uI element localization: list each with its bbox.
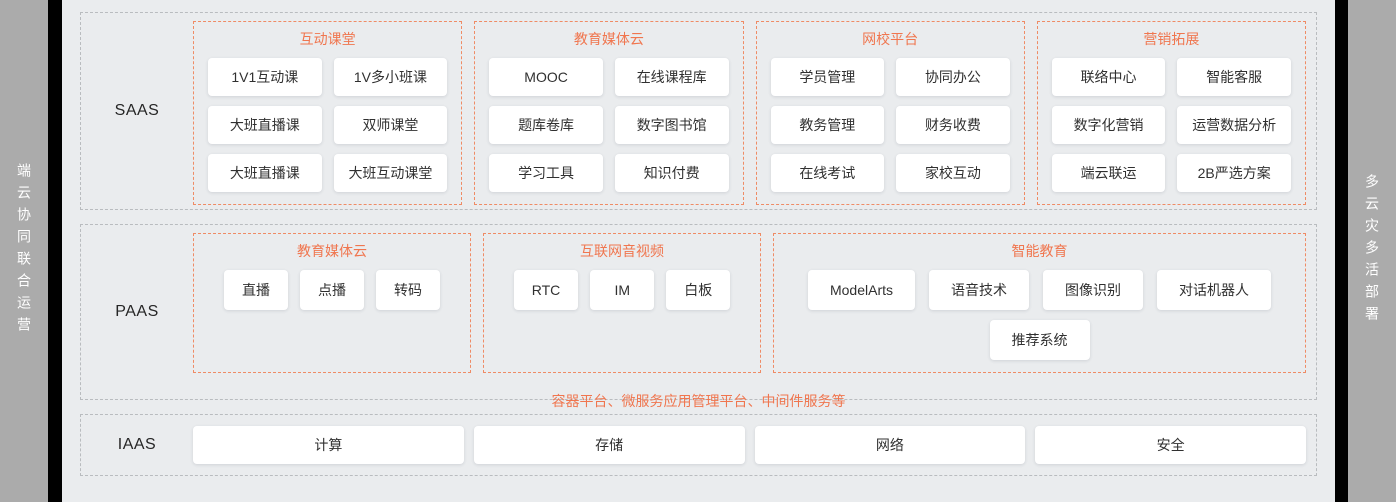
- card-item[interactable]: 端云联运: [1052, 154, 1166, 192]
- card-item[interactable]: 大班互动课堂: [334, 154, 448, 192]
- card-item[interactable]: 数字化营销: [1052, 106, 1166, 144]
- card-item[interactable]: ModelArts: [808, 270, 915, 310]
- card-item[interactable]: 教务管理: [771, 106, 885, 144]
- left-rail-label: 端云协同联合运营: [17, 163, 31, 339]
- card-item[interactable]: 1V1互动课: [208, 58, 322, 96]
- group-title: 互动课堂: [300, 29, 356, 49]
- group-education-media-cloud-saas: 教育媒体云 MOOC 在线课程库 题库卷库 数字图书馆 学习工具 知识付费: [474, 21, 743, 205]
- group-cards: ModelArts 语音技术 图像识别 对话机器人 推荐系统: [788, 270, 1291, 360]
- group-internet-audio-video: 互联网音视频 RTC IM 白板: [483, 233, 761, 373]
- group-cards: 1V1互动课 1V多小班课 大班直播课 双师课堂 大班直播课 大班互动课堂: [208, 58, 447, 192]
- card-item[interactable]: 财务收费: [896, 106, 1010, 144]
- tier-body-paas: 教育媒体云 直播 点播 转码 互联网音视频 RTC IM 白板: [193, 225, 1316, 399]
- card-item[interactable]: 学员管理: [771, 58, 885, 96]
- card-item[interactable]: 双师课堂: [334, 106, 448, 144]
- card-item[interactable]: 直播: [224, 270, 288, 310]
- group-interactive-classroom: 互动课堂 1V1互动课 1V多小班课 大班直播课 双师课堂 大班直播课 大班互动…: [193, 21, 462, 205]
- card-item[interactable]: 智能客服: [1177, 58, 1291, 96]
- card-item[interactable]: 存储: [474, 426, 745, 464]
- card-item[interactable]: IM: [590, 270, 654, 310]
- card-item[interactable]: 知识付费: [615, 154, 729, 192]
- group-cards: 直播 点播 转码: [224, 270, 440, 310]
- tier-saas: SAAS 互动课堂 1V1互动课 1V多小班课 大班直播课 双师课堂 大班直播课…: [80, 12, 1317, 210]
- tier-body-saas: 互动课堂 1V1互动课 1V多小班课 大班直播课 双师课堂 大班直播课 大班互动…: [193, 13, 1316, 209]
- card-item[interactable]: MOOC: [489, 58, 603, 96]
- card-item[interactable]: 计算: [193, 426, 464, 464]
- card-item[interactable]: 在线课程库: [615, 58, 729, 96]
- card-item[interactable]: 数字图书馆: [615, 106, 729, 144]
- card-item[interactable]: 联络中心: [1052, 58, 1166, 96]
- card-item[interactable]: 大班直播课: [208, 154, 322, 192]
- group-title: 教育媒体云: [297, 241, 367, 261]
- tier-label-iaas: IAAS: [81, 415, 193, 475]
- left-rail: 端云协同联合运营: [0, 0, 48, 502]
- architecture-diagram: 端云协同联合运营 SAAS 互动课堂 1V1互动课 1V多小班课 大班直播课 双…: [0, 0, 1396, 502]
- group-title: 互联网音视频: [580, 241, 664, 261]
- card-item[interactable]: 大班直播课: [208, 106, 322, 144]
- right-rail-label: 多云灾多活部署: [1365, 174, 1379, 328]
- card-item[interactable]: 网络: [755, 426, 1026, 464]
- group-cards: MOOC 在线课程库 题库卷库 数字图书馆 学习工具 知识付费: [489, 58, 728, 192]
- iaas-cards-row: 计算 存储 网络 安全: [193, 415, 1316, 475]
- card-item[interactable]: 1V多小班课: [334, 58, 448, 96]
- card-item[interactable]: 2B严选方案: [1177, 154, 1291, 192]
- group-cards: 学员管理 协同办公 教务管理 财务收费 在线考试 家校互动: [771, 58, 1010, 192]
- paas-groups-row: 教育媒体云 直播 点播 转码 互联网音视频 RTC IM 白板: [193, 225, 1316, 383]
- card-item[interactable]: 学习工具: [489, 154, 603, 192]
- left-rail-divider: [48, 0, 62, 502]
- group-title: 营销拓展: [1143, 29, 1199, 49]
- tier-iaas: IAAS 计算 存储 网络 安全: [80, 414, 1317, 476]
- group-cards: 联络中心 智能客服 数字化营销 运营数据分析 端云联运 2B严选方案: [1052, 58, 1291, 192]
- group-title: 智能教育: [1012, 241, 1068, 261]
- card-item[interactable]: 题库卷库: [489, 106, 603, 144]
- tier-paas: PAAS 教育媒体云 直播 点播 转码 互联网音视频 RTC: [80, 224, 1317, 400]
- card-item[interactable]: 点播: [300, 270, 364, 310]
- tier-body-iaas: 计算 存储 网络 安全: [193, 415, 1316, 475]
- card-item[interactable]: 语音技术: [929, 270, 1029, 310]
- card-item[interactable]: 转码: [376, 270, 440, 310]
- group-education-media-cloud-paas: 教育媒体云 直播 点播 转码: [193, 233, 471, 373]
- card-item[interactable]: 对话机器人: [1157, 270, 1271, 310]
- card-item[interactable]: 安全: [1035, 426, 1306, 464]
- card-item[interactable]: 运营数据分析: [1177, 106, 1291, 144]
- group-title: 网校平台: [862, 29, 918, 49]
- right-rail: 多云灾多活部署: [1348, 0, 1396, 502]
- card-item[interactable]: 在线考试: [771, 154, 885, 192]
- right-rail-divider: [1335, 0, 1348, 502]
- card-item[interactable]: 协同办公: [896, 58, 1010, 96]
- tier-label-paas: PAAS: [81, 225, 193, 399]
- card-item[interactable]: 白板: [666, 270, 730, 310]
- group-intelligent-education: 智能教育 ModelArts 语音技术 图像识别 对话机器人 推荐系统: [773, 233, 1306, 373]
- group-cards: RTC IM 白板: [514, 270, 731, 310]
- saas-groups-row: 互动课堂 1V1互动课 1V多小班课 大班直播课 双师课堂 大班直播课 大班互动…: [193, 13, 1316, 215]
- card-item[interactable]: RTC: [514, 270, 579, 310]
- tier-stack: SAAS 互动课堂 1V1互动课 1V多小班课 大班直播课 双师课堂 大班直播课…: [62, 0, 1335, 502]
- card-item[interactable]: 图像识别: [1043, 270, 1143, 310]
- group-marketing-expansion: 营销拓展 联络中心 智能客服 数字化营销 运营数据分析 端云联运 2B严选方案: [1037, 21, 1306, 205]
- tier-label-saas: SAAS: [81, 13, 193, 209]
- card-item[interactable]: 推荐系统: [990, 320, 1090, 360]
- group-title: 教育媒体云: [574, 29, 644, 49]
- group-online-school-platform: 网校平台 学员管理 协同办公 教务管理 财务收费 在线考试 家校互动: [756, 21, 1025, 205]
- card-item[interactable]: 家校互动: [896, 154, 1010, 192]
